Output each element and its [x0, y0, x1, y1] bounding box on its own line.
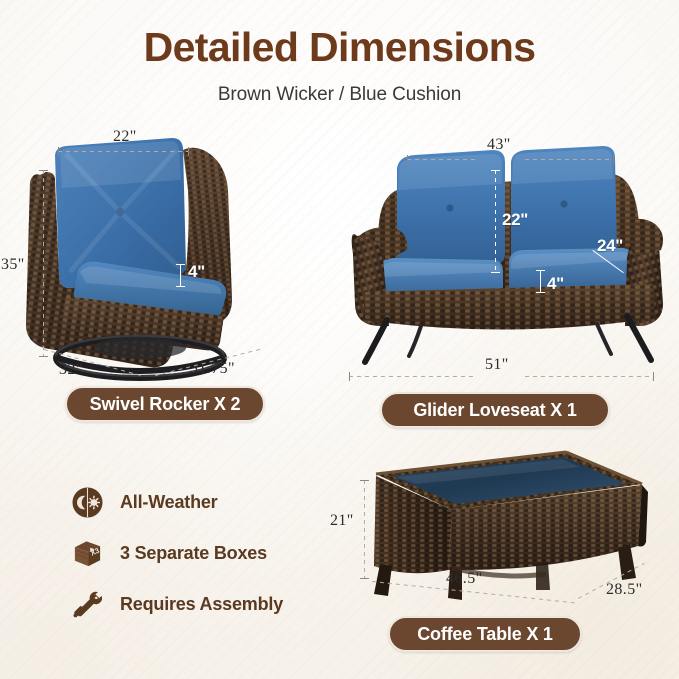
feature-three-boxes: X3 3 Separate Boxes	[72, 538, 267, 569]
dim-label-rocker-front-width: 32"	[59, 361, 83, 379]
dim-line-rocker-cushion	[180, 264, 181, 286]
dim-cap-rocker-height-bottom	[39, 356, 48, 357]
dim-cap-loveseat-overall-left	[349, 372, 350, 381]
dim-cap-rocker-width-left	[58, 147, 59, 156]
dim-line-loveseat-seat-width-right	[525, 159, 613, 160]
dim-line-rocker-width-top	[58, 151, 188, 152]
dim-label-rocker-height: 35"	[1, 256, 25, 274]
dim-label-rocker-width-top: 22"	[113, 128, 137, 146]
feature-label-all-weather: All-Weather	[120, 492, 218, 513]
dim-cap-loveseat-cushion-top	[536, 270, 545, 271]
dim-cap-loveseat-seat-width-right	[613, 155, 614, 164]
dim-line-loveseat-overall-right	[525, 376, 653, 377]
dim-label-table-length: 46.5"	[446, 570, 483, 588]
dim-line-loveseat-seat-width-left	[407, 159, 479, 160]
dim-line-table-height	[364, 480, 365, 578]
dim-line-loveseat-back-height	[495, 170, 496, 272]
dim-cap-loveseat-seat-width-left	[407, 155, 408, 164]
badge-coffee-table[interactable]: Coffee Table X 1	[388, 616, 582, 652]
dim-cap-rocker-cushion-top	[176, 264, 185, 265]
dim-cap-table-height-top	[360, 480, 369, 481]
requires-assembly-icon	[72, 589, 103, 620]
feature-label-requires-assembly: Requires Assembly	[120, 594, 283, 615]
dim-line-loveseat-cushion	[540, 270, 541, 292]
dim-label-table-height: 21"	[330, 512, 354, 530]
dim-label-loveseat-cushion: 4"	[547, 274, 564, 294]
dim-label-rocker-cushion: 4"	[188, 262, 205, 282]
header: Detailed Dimensions Brown Wicker / Blue …	[0, 0, 679, 106]
dim-cap-loveseat-overall-right	[653, 372, 654, 381]
dim-cap-loveseat-cushion-bottom	[536, 292, 545, 293]
dim-cap-loveseat-back-top	[491, 170, 500, 171]
badge-swivel-rocker[interactable]: Swivel Rocker X 2	[65, 386, 265, 422]
badge-glider-loveseat[interactable]: Glider Loveseat X 1	[380, 392, 610, 428]
dim-line-rocker-height	[43, 170, 44, 356]
dim-label-loveseat-depth: 24"	[597, 236, 623, 256]
product-coffee-table: 21" 46.5" 28.5" Coffee Table X 1	[330, 438, 679, 678]
feature-requires-assembly: Requires Assembly	[72, 589, 283, 620]
page-subtitle: Brown Wicker / Blue Cushion	[0, 84, 679, 106]
dim-label-table-depth: 28.5"	[606, 581, 643, 599]
dim-cap-table-height-bottom	[360, 578, 369, 579]
coffee-table-illustration	[330, 438, 679, 628]
product-swivel-rocker: 22" 35" 4" 32" 31.75" Swivel Rocker X 2	[0, 120, 330, 420]
dim-label-loveseat-back-height: 22"	[502, 210, 528, 230]
three-boxes-icon: X3	[72, 538, 103, 569]
feature-all-weather: All-Weather	[72, 487, 218, 518]
page-title: Detailed Dimensions	[0, 27, 679, 68]
infographic-page: Detailed Dimensions Brown Wicker / Blue …	[0, 0, 679, 679]
dim-cap-rocker-cushion-bottom	[176, 286, 185, 287]
dim-cap-rocker-width-right	[188, 147, 189, 156]
dim-cap-loveseat-back-bottom	[491, 272, 500, 273]
dim-label-rocker-depth: 31.75"	[190, 360, 235, 378]
product-glider-loveseat: 43" 22" 24" 4" 51" Glider Loveseat X 1	[335, 128, 679, 428]
all-weather-icon	[72, 487, 103, 518]
dim-label-loveseat-overall-width: 51"	[485, 356, 509, 374]
glider-loveseat-illustration	[335, 128, 679, 378]
dim-label-loveseat-seat-width: 43"	[487, 136, 511, 154]
feature-label-three-boxes: 3 Separate Boxes	[120, 543, 267, 564]
dim-cap-rocker-height-top	[39, 170, 48, 171]
dim-line-loveseat-overall-left	[349, 376, 477, 377]
